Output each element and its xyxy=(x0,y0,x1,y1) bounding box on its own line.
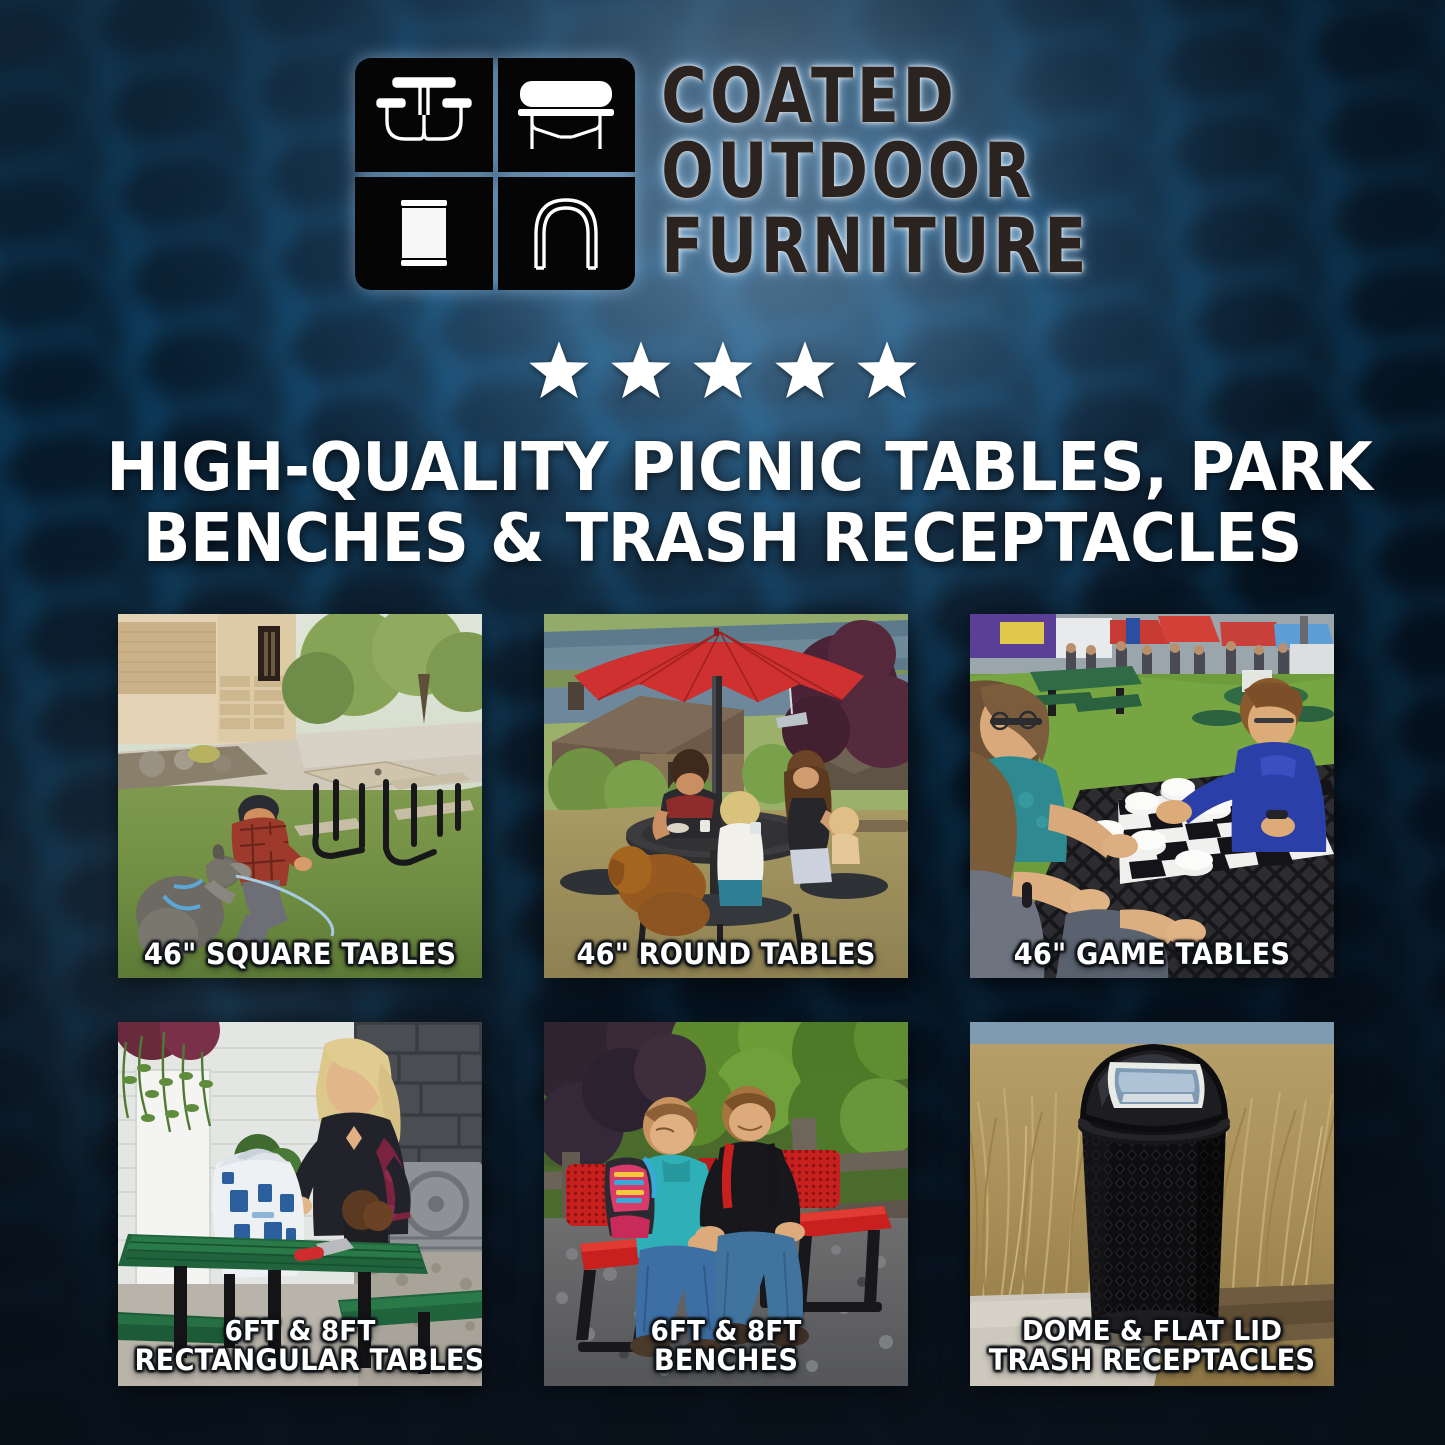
caption-line-2: RECTANGULAR TABLES xyxy=(135,1346,466,1376)
product-category-grid: 46" SQUARE TABLES xyxy=(118,614,1326,1386)
headline-line-2: BENCHES & TRASH RECEPTACLES xyxy=(106,503,1338,574)
brand-line-3: FURNITURE xyxy=(661,210,1090,283)
product-card-benches[interactable]: 6FT & 8FT BENCHES xyxy=(544,1022,908,1386)
caption-line-1: 46" GAME TABLES xyxy=(987,940,1318,970)
star-icon xyxy=(774,340,836,400)
caption-line-2: TRASH RECEPTACLES xyxy=(987,1346,1318,1376)
brand-line-1: COATED xyxy=(661,60,1090,133)
star-icon xyxy=(528,340,590,400)
brand-logo: COATED OUTDOOR FURNITURE xyxy=(0,58,1445,290)
product-card-game-tables[interactable]: 46" GAME TABLES xyxy=(970,614,1334,978)
product-card-round-tables[interactable]: 46" ROUND TABLES xyxy=(544,614,908,978)
page-title: HIGH-QUALITY PICNIC TABLES, PARK BENCHES… xyxy=(51,432,1395,574)
picnic-table-front-icon xyxy=(355,58,493,172)
product-card-trash-receptacles[interactable]: DOME & FLAT LID TRASH RECEPTACLES xyxy=(970,1022,1334,1386)
card-caption: 46" ROUND TABLES xyxy=(555,940,897,970)
star-rating xyxy=(0,340,1445,400)
card-caption: 6FT & 8FT RECTANGULAR TABLES xyxy=(129,1317,471,1376)
card-caption: 46" GAME TABLES xyxy=(981,940,1323,970)
logo-icon-grid xyxy=(355,58,635,290)
star-icon xyxy=(692,340,754,400)
headline-line-1: HIGH-QUALITY PICNIC TABLES, PARK xyxy=(106,432,1338,503)
product-card-square-tables[interactable]: 46" SQUARE TABLES xyxy=(118,614,482,978)
brand-wordmark: COATED OUTDOOR FURNITURE xyxy=(661,58,1090,270)
table-side-icon xyxy=(498,58,636,172)
caption-line-1: 46" ROUND TABLES xyxy=(561,940,892,970)
caption-line-2: BENCHES xyxy=(561,1346,892,1376)
bike-rack-arch-icon xyxy=(498,177,636,291)
caption-line-1: 46" SQUARE TABLES xyxy=(135,940,466,970)
star-icon xyxy=(856,340,918,400)
square-table-with-person-and-dog-photo xyxy=(118,614,482,978)
round-table-with-family-under-red-umbrella-photo xyxy=(544,614,908,978)
star-icon xyxy=(610,340,672,400)
caption-line-1: DOME & FLAT LID xyxy=(987,1317,1318,1346)
caption-line-1: 6FT & 8FT xyxy=(135,1317,466,1346)
caption-line-1: 6FT & 8FT xyxy=(561,1317,892,1346)
card-caption: DOME & FLAT LID TRASH RECEPTACLES xyxy=(981,1317,1323,1376)
brand-line-2: OUTDOOR xyxy=(661,135,1090,208)
game-table-checkers-players-photo xyxy=(970,614,1334,978)
card-caption: 6FT & 8FT BENCHES xyxy=(555,1317,897,1376)
card-caption: 46" SQUARE TABLES xyxy=(129,940,471,970)
product-card-rectangular-tables[interactable]: 6FT & 8FT RECTANGULAR TABLES xyxy=(118,1022,482,1386)
trash-receptacle-icon xyxy=(355,177,493,291)
